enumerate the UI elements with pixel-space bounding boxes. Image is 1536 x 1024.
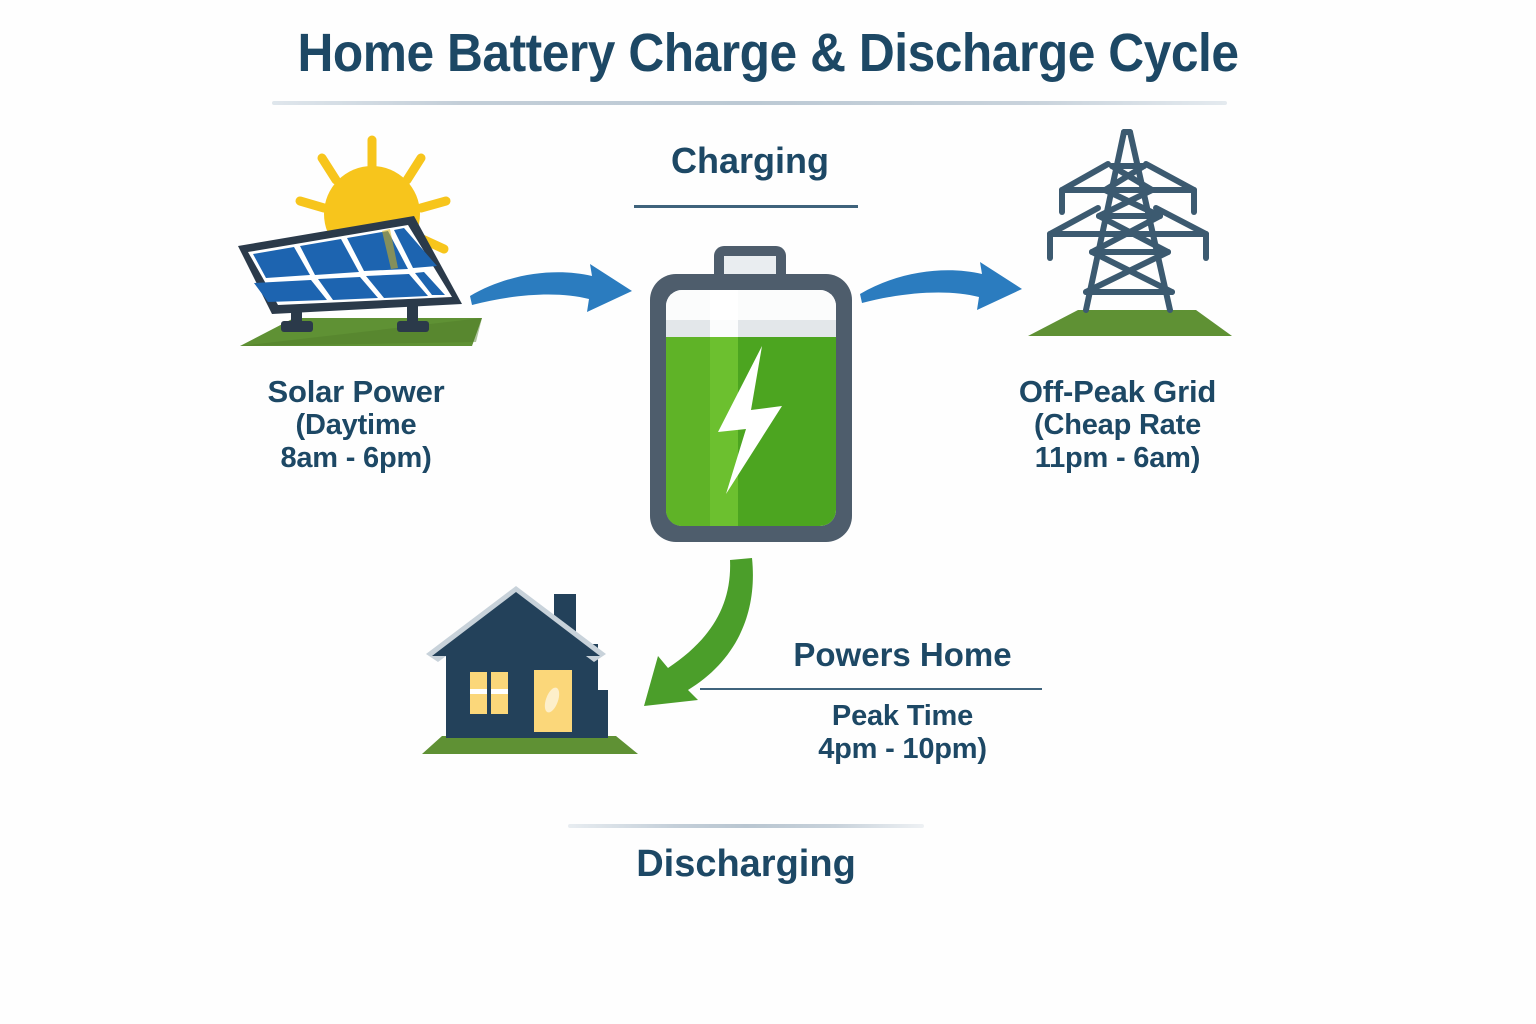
solar-caption: Solar Power (Daytime 8am - 6pm) [216, 374, 496, 475]
arrow-battery-to-grid [856, 256, 1026, 326]
house-icon [420, 568, 660, 768]
home-caption-line2: Peak Time [760, 700, 1045, 733]
solar-caption-line1: Solar Power [216, 374, 496, 409]
infographic-canvas: Home Battery Charge & Discharge Cycle Ch… [0, 0, 1536, 1024]
grid-caption-line2: (Cheap Rate [975, 409, 1260, 442]
grid-caption-line1: Off-Peak Grid [975, 374, 1260, 409]
title-divider [272, 101, 1227, 105]
curved-arrow-right-blue-icon-2 [856, 256, 1026, 326]
battery-graphic [636, 244, 866, 556]
battery-charged-icon [636, 244, 866, 556]
discharging-label: Discharging [596, 843, 896, 886]
grid-caption: Off-Peak Grid (Cheap Rate 11pm - 6am) [975, 374, 1260, 475]
home-ground-shape [422, 736, 638, 754]
discharging-divider [568, 824, 924, 828]
home-caption-line3: 4pm - 10pm) [760, 733, 1045, 766]
grid-graphic [1020, 124, 1240, 356]
page-title: Home Battery Charge & Discharge Cycle [61, 22, 1474, 84]
solar-caption-line2: (Daytime [216, 409, 496, 442]
powers-home-label: Powers Home [730, 636, 1075, 674]
home-caption: Peak Time 4pm - 10pm) [760, 700, 1045, 766]
arrow-solar-to-battery [466, 258, 636, 328]
home-graphic [420, 568, 660, 768]
house-body [446, 644, 598, 738]
solar-caption-line3: 8am - 6pm) [216, 442, 496, 475]
grid-ground-shape [1028, 310, 1232, 336]
powers-home-underline [700, 688, 1042, 690]
transmission-tower-icon [1020, 124, 1240, 356]
curved-arrow-right-blue-icon [466, 258, 636, 328]
solar-power-graphic [232, 128, 488, 358]
grid-caption-line3: 11pm - 6am) [975, 442, 1260, 475]
solar-panel-with-sun-icon [232, 128, 488, 358]
charging-label: Charging [600, 140, 900, 182]
charging-label-underline [634, 205, 858, 208]
